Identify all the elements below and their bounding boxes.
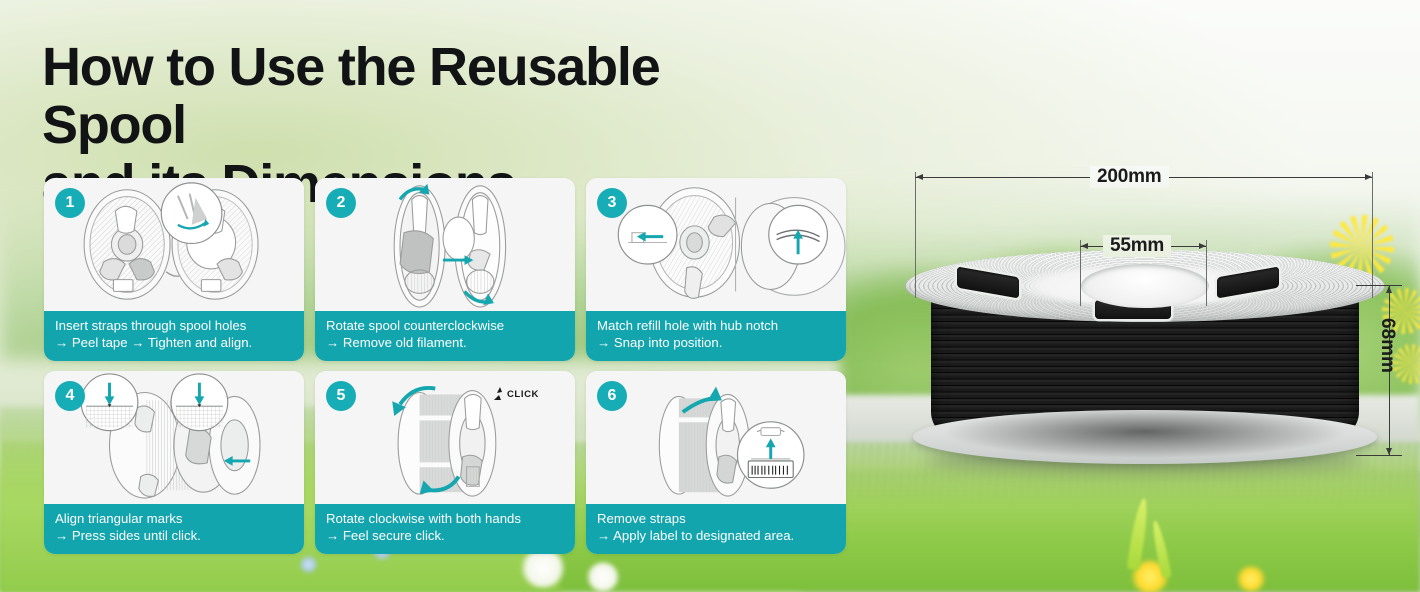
step-badge-4: 4 [55, 381, 85, 411]
click-annotation: CLICK [493, 387, 539, 401]
step-card-3[interactable]: 3 [586, 178, 846, 361]
step-card-4[interactable]: 4 [44, 371, 304, 554]
step-caption-1: Insert straps through spool holes → Peel… [44, 311, 304, 361]
spool-bottom-flange [913, 410, 1377, 464]
step-illustration-1: 1 [44, 178, 304, 311]
caption-line-2: → Snap into position. [597, 334, 835, 352]
spool-product-photo [905, 250, 1385, 465]
extension-line-bottom-68mm [1356, 455, 1402, 456]
dimension-label-55mm: 55mm [1103, 235, 1171, 257]
step-illustration-6: 6 [586, 371, 846, 504]
step-badge-6: 6 [597, 381, 627, 411]
caption-line-2: → Peel tape → Tighten and align. [55, 334, 293, 352]
title-line-1: How to Use the Reusable Spool [42, 37, 660, 155]
step-caption-4: Align triangular marks → Press sides unt… [44, 504, 304, 554]
caption-line-2: → Press sides until click. [55, 527, 293, 545]
step-illustration-3: 3 [586, 178, 846, 311]
step-caption-2: Rotate spool counterclockwise → Remove o… [315, 311, 575, 361]
step-badge-1: 1 [55, 188, 85, 218]
step-caption-5: Rotate clockwise with both hands → Feel … [315, 504, 575, 554]
step-caption-6: Remove straps → Apply label to designate… [586, 504, 846, 554]
extension-line-right [1372, 172, 1373, 298]
flower-yellow [1236, 566, 1266, 592]
caption-line-2: → Feel secure click. [326, 527, 564, 545]
caption-line-1: Remove straps [597, 511, 686, 526]
flower-white [586, 562, 620, 592]
spool-top-flange [905, 250, 1385, 322]
arrow-up-68mm [1386, 286, 1392, 293]
arrow-left-55mm [1081, 243, 1088, 249]
step-badge-5: 5 [326, 381, 356, 411]
extension-line-hub-right [1206, 240, 1207, 306]
step-illustration-4: 4 [44, 371, 304, 504]
steps-grid: 1 [44, 178, 848, 554]
caption-line-1: Align triangular marks [55, 511, 183, 526]
step-card-1[interactable]: 1 [44, 178, 304, 361]
arrow-down-68mm [1386, 448, 1392, 455]
caption-line-1: Insert straps through spool holes [55, 318, 246, 333]
caption-line-2: → Remove old filament. [326, 334, 564, 352]
spool-center-hub [1081, 264, 1209, 308]
dimension-label-200mm: 200mm [1090, 166, 1169, 188]
step-card-5[interactable]: 5 CLICK [315, 371, 575, 554]
arrow-left-200mm [916, 174, 923, 180]
caption-line-1: Rotate spool counterclockwise [326, 318, 504, 333]
flower-white [520, 548, 566, 588]
step-badge-3: 3 [597, 188, 627, 218]
caption-line-2: → Apply label to designated area. [597, 527, 835, 545]
spool-slot-left [957, 267, 1019, 299]
step-card-6[interactable]: 6 [586, 371, 846, 554]
click-burst-icon [493, 387, 504, 401]
click-label: CLICK [507, 389, 539, 400]
spool-slot-right [1217, 267, 1279, 299]
extension-line-left [915, 172, 916, 298]
infographic-stage: How to Use the Reusable Spool and its Di… [0, 0, 1420, 592]
caption-line-1: Match refill hole with hub notch [597, 318, 778, 333]
arrow-right-200mm [1365, 174, 1372, 180]
extension-line-top-68mm [1356, 285, 1402, 286]
step-illustration-5: 5 CLICK [315, 371, 575, 504]
step-badge-2: 2 [326, 188, 356, 218]
flower-blue [300, 556, 317, 573]
step-caption-3: Match refill hole with hub notch → Snap … [586, 311, 846, 361]
step-illustration-2: 2 [315, 178, 575, 311]
extension-line-hub-left [1080, 240, 1081, 306]
dimension-label-68mm: 68mm [1376, 318, 1398, 373]
caption-line-1: Rotate clockwise with both hands [326, 511, 521, 526]
step-card-2[interactable]: 2 [315, 178, 575, 361]
arrow-right-55mm [1199, 243, 1206, 249]
